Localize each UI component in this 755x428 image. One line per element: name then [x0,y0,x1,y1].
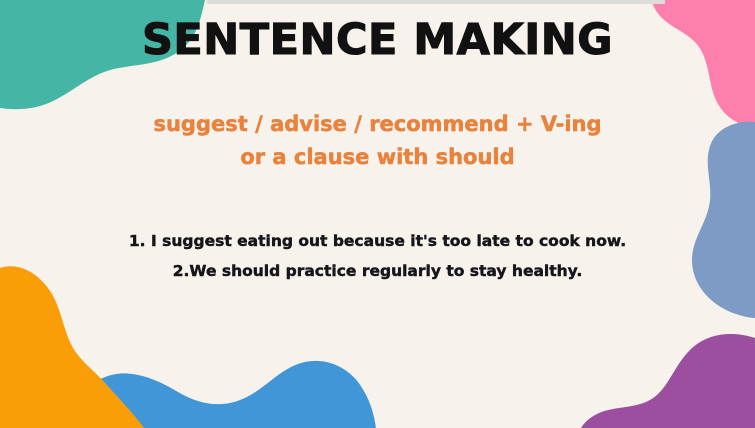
slide-canvas: SENTENCE MAKING suggest / advise / recom… [0,0,755,428]
grammar-rule-subtitle: suggest / advise / recommend + V-ing or … [0,108,755,173]
subtitle-line-1: suggest / advise / recommend + V-ing [0,108,755,141]
example-sentence-2: 2.We should practice regularly to stay h… [0,257,755,287]
subtitle-line-2: or a clause with should [0,141,755,174]
slide-content: SENTENCE MAKING suggest / advise / recom… [0,0,755,428]
example-sentence-1: 1. I suggest eating out because it's too… [0,227,755,257]
example-sentence-list: 1. I suggest eating out because it's too… [0,227,755,287]
page-title: SENTENCE MAKING [0,17,755,64]
